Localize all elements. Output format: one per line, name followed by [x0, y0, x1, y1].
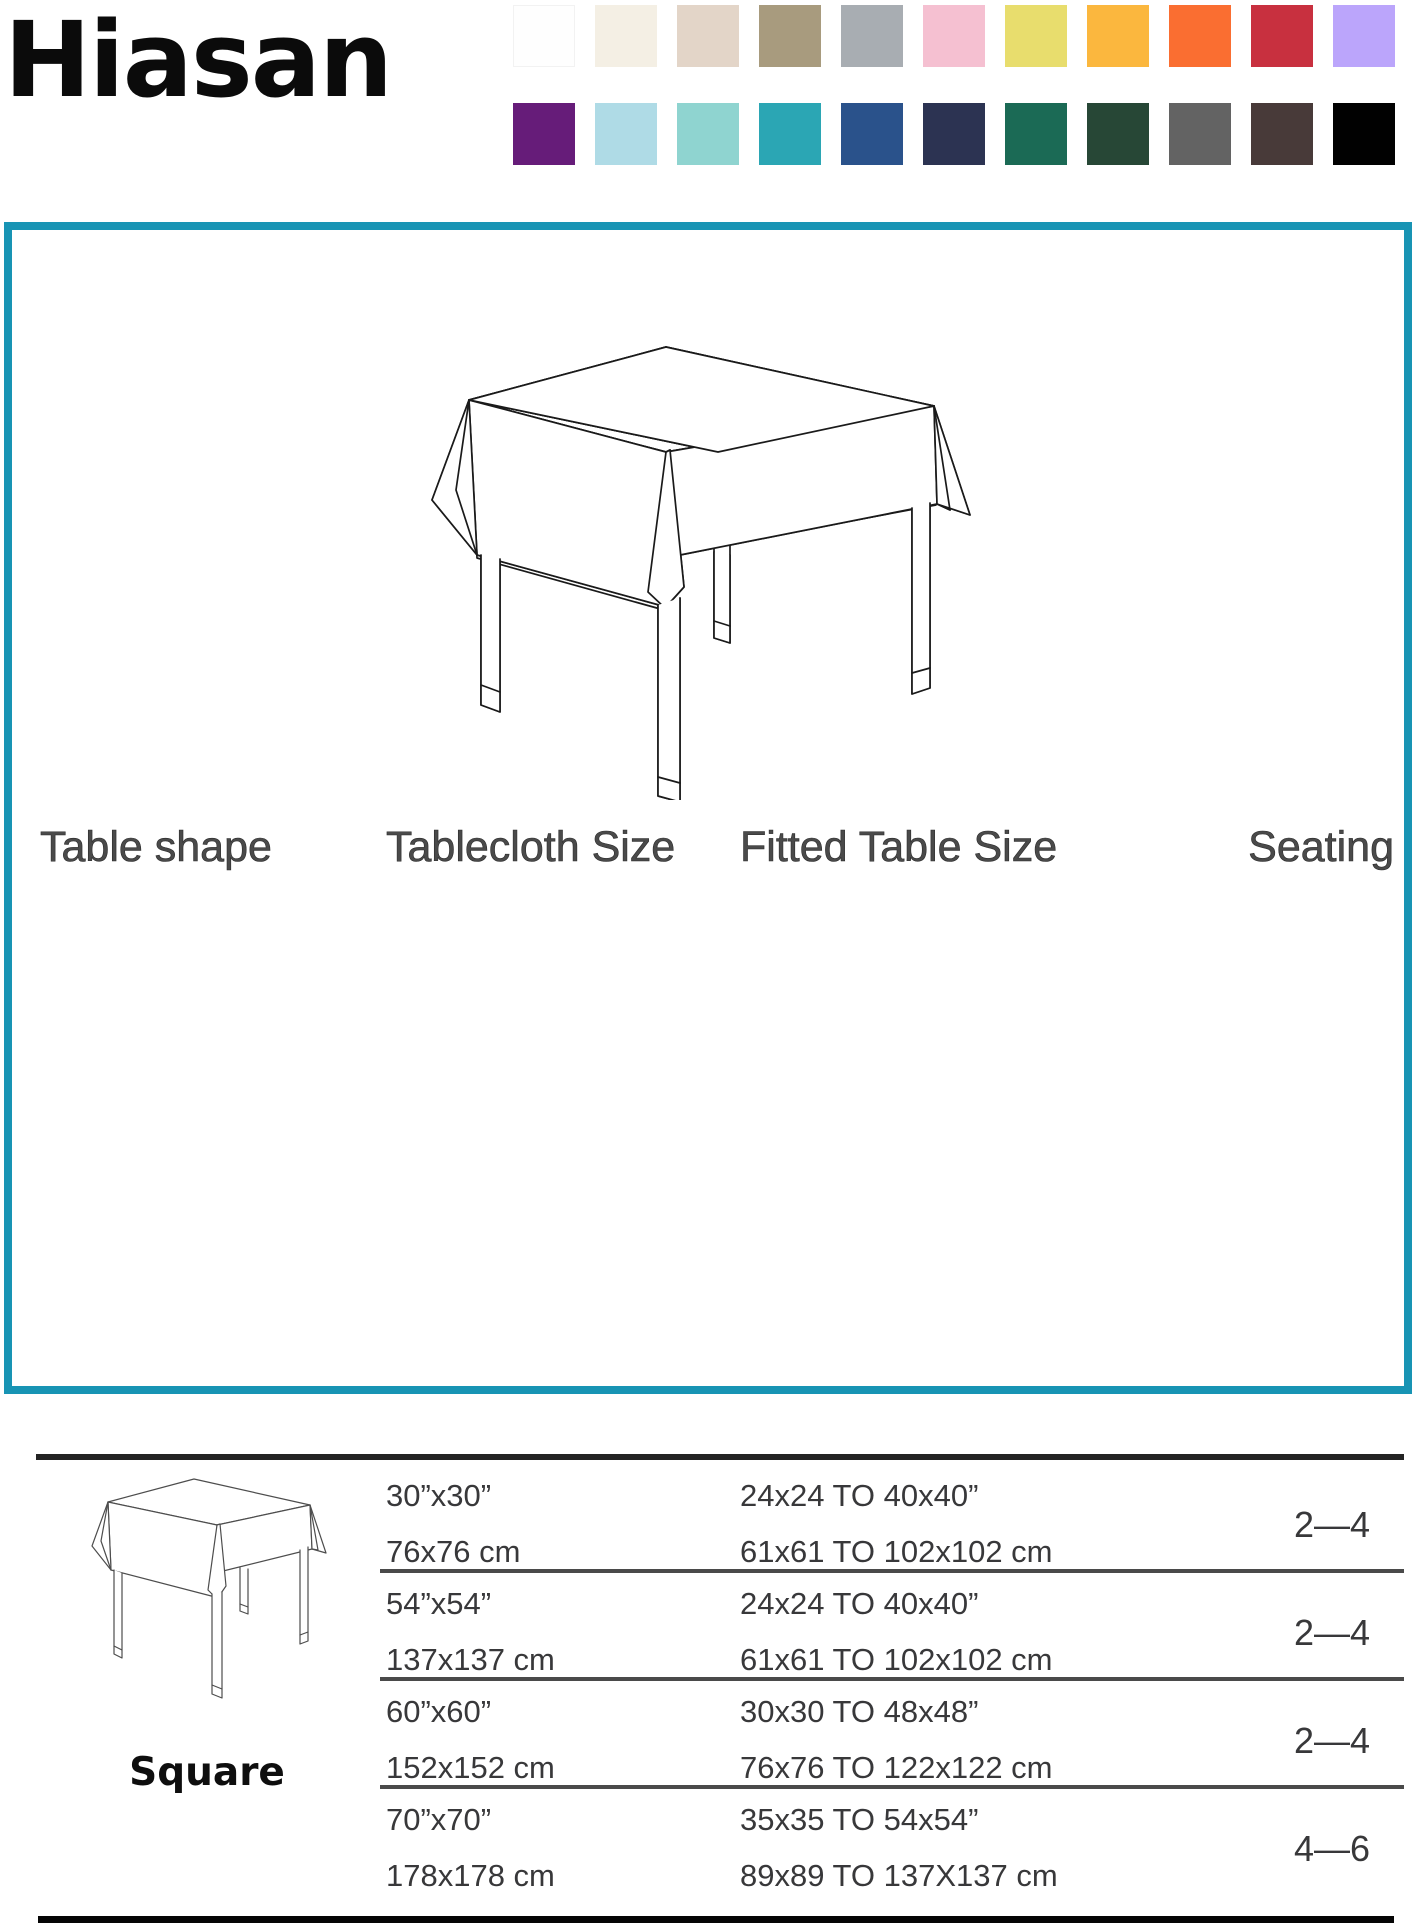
- color-swatch-taupe[interactable]: [759, 5, 821, 67]
- column-header-tablecloth-size: Tablecloth Size: [386, 823, 675, 872]
- color-swatch-midnight[interactable]: [923, 103, 985, 165]
- column-header-fitted-table-size: Fitted Table Size: [740, 823, 1057, 872]
- tablecloth-size-cm: 152x152 cm: [386, 1750, 555, 1786]
- color-swatch-red[interactable]: [1251, 5, 1313, 67]
- color-swatch-orange[interactable]: [1169, 5, 1231, 67]
- table-row: 30”x30” 76x76 cm 24x24 TO 40x40” 61x61 T…: [28, 1464, 1404, 1572]
- header-banner: Hiasan: [0, 0, 1416, 200]
- fitted-table-size-cm: 76x76 TO 122x122 cm: [740, 1750, 1053, 1786]
- color-swatch-brown[interactable]: [1251, 103, 1313, 165]
- color-swatch-marigold[interactable]: [1087, 5, 1149, 67]
- color-swatch-teal[interactable]: [759, 103, 821, 165]
- header-divider: [36, 1454, 1404, 1460]
- fitted-table-size-cm: 61x61 TO 102x102 cm: [740, 1642, 1053, 1678]
- tablecloth-size-inch: 60”x60”: [386, 1694, 491, 1730]
- tablecloth-size-cm: 76x76 cm: [386, 1534, 520, 1570]
- color-swatch-black[interactable]: [1333, 103, 1395, 165]
- swatch-row-2: [513, 103, 1403, 165]
- column-header-seating: Seating: [1248, 823, 1394, 872]
- size-chart-body: 30”x30” 76x76 cm 24x24 TO 40x40” 61x61 T…: [28, 1464, 1404, 1896]
- fitted-table-size-inch: 24x24 TO 40x40”: [740, 1478, 978, 1514]
- swatch-row-1: [513, 5, 1403, 67]
- color-swatch-yellow[interactable]: [1005, 5, 1067, 67]
- table-row: 54”x54” 137x137 cm 24x24 TO 40x40” 61x61…: [28, 1572, 1404, 1680]
- tablecloth-size-inch: 30”x30”: [386, 1478, 491, 1514]
- size-chart-header-row: Table shape Tablecloth Size Fitted Table…: [28, 812, 1404, 872]
- column-header-table-shape: Table shape: [40, 823, 272, 872]
- tablecloth-size-inch: 54”x54”: [386, 1586, 491, 1622]
- seating-value: 2—4: [1294, 1720, 1370, 1762]
- square-table-illustration: [418, 340, 988, 800]
- tablecloth-size-inch: 70”x70”: [386, 1802, 491, 1838]
- color-swatch-aqua[interactable]: [677, 103, 739, 165]
- color-swatch-grey[interactable]: [841, 5, 903, 67]
- seating-value: 2—4: [1294, 1504, 1370, 1546]
- color-swatch-purple[interactable]: [513, 103, 575, 165]
- color-swatch-emerald[interactable]: [1005, 103, 1067, 165]
- fitted-table-size-inch: 24x24 TO 40x40”: [740, 1586, 978, 1622]
- color-swatch-lavender[interactable]: [1333, 5, 1395, 67]
- color-swatch-hunter-green[interactable]: [1087, 103, 1149, 165]
- color-swatch-beige[interactable]: [677, 5, 739, 67]
- color-swatch-grid: [513, 5, 1403, 201]
- color-swatch-light-blue[interactable]: [595, 103, 657, 165]
- color-swatch-navy-blue[interactable]: [841, 103, 903, 165]
- fitted-table-size-cm: 89x89 TO 137X137 cm: [740, 1858, 1058, 1894]
- seating-value: 2—4: [1294, 1612, 1370, 1654]
- fitted-table-size-inch: 35x35 TO 54x54”: [740, 1802, 978, 1838]
- table-row: 70”x70” 178x178 cm 35x35 TO 54x54” 89x89…: [28, 1788, 1404, 1896]
- fitted-table-size-inch: 30x30 TO 48x48”: [740, 1694, 978, 1730]
- tablecloth-size-cm: 178x178 cm: [386, 1858, 555, 1894]
- content-frame: Table shape Tablecloth Size Fitted Table…: [4, 222, 1412, 1394]
- tablecloth-size-cm: 137x137 cm: [386, 1642, 555, 1678]
- brand-logo: Hiasan: [4, 8, 391, 112]
- seating-value: 4—6: [1294, 1828, 1370, 1870]
- size-chart: Table shape Tablecloth Size Fitted Table…: [28, 812, 1404, 872]
- table-bottom-divider: [38, 1916, 1394, 1923]
- fitted-table-size-cm: 61x61 TO 102x102 cm: [740, 1534, 1053, 1570]
- color-swatch-charcoal[interactable]: [1169, 103, 1231, 165]
- table-row: 60”x60” 152x152 cm 30x30 TO 48x48” 76x76…: [28, 1680, 1404, 1788]
- color-swatch-pink[interactable]: [923, 5, 985, 67]
- color-swatch-ivory[interactable]: [595, 5, 657, 67]
- color-swatch-white[interactable]: [513, 5, 575, 67]
